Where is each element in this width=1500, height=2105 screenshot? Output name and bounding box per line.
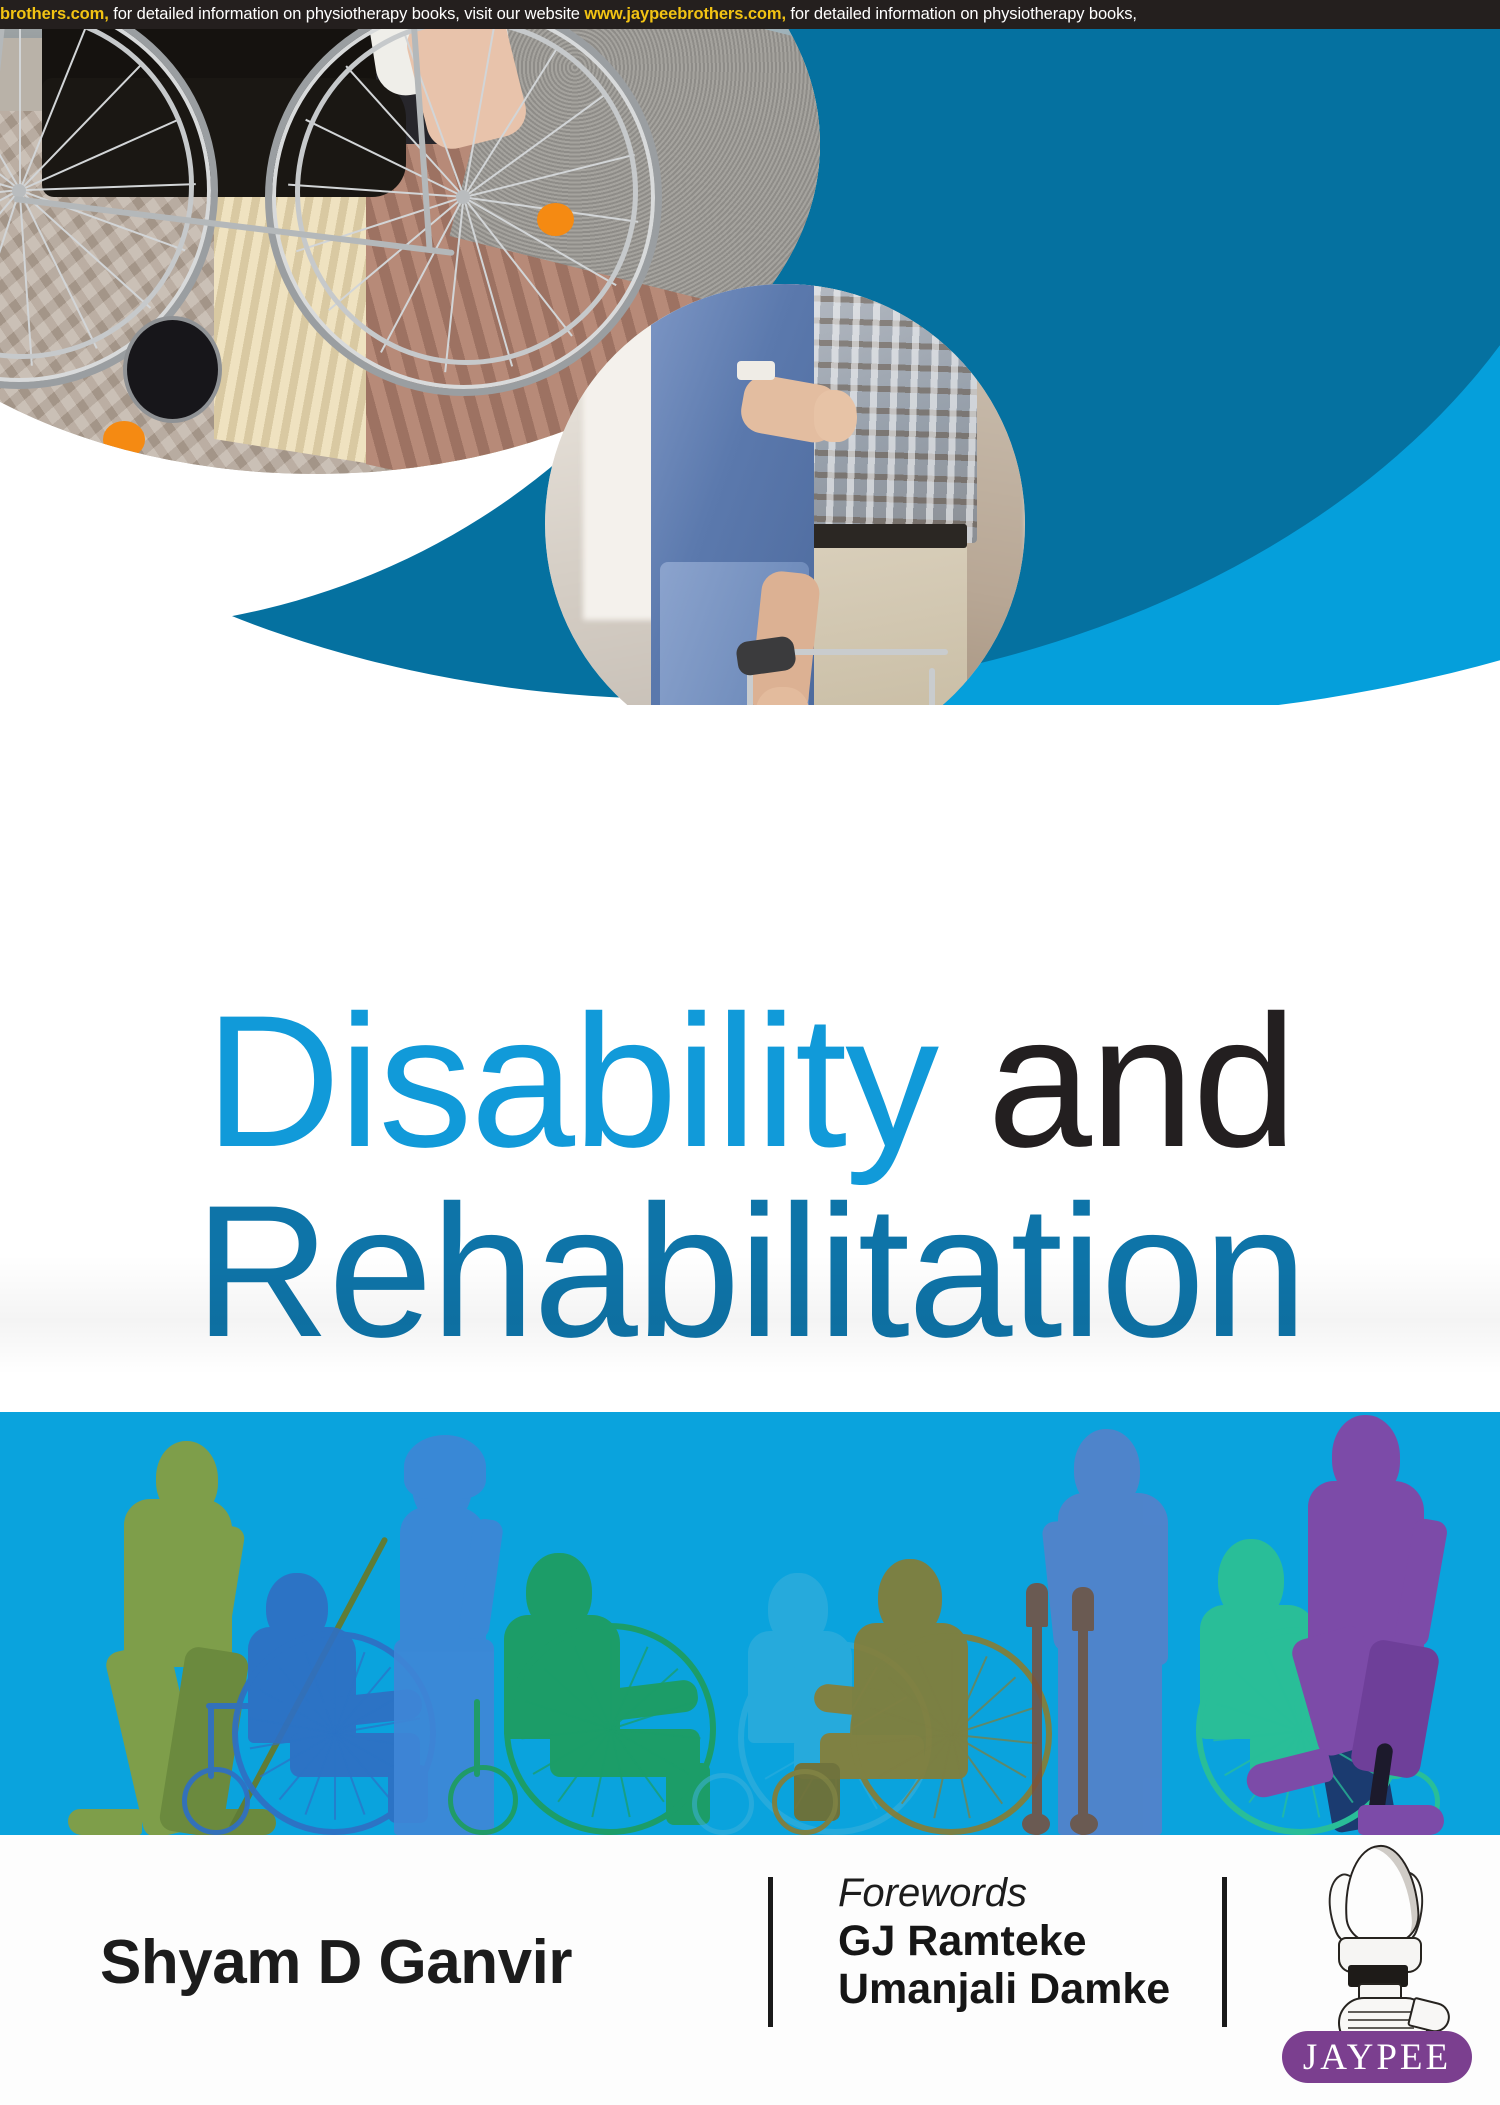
divider-right bbox=[1222, 1877, 1227, 2027]
title-word-disability: Disability bbox=[205, 976, 937, 1186]
forewords-block: Forewords GJ Ramteke Umanjali Damke bbox=[838, 1871, 1170, 2013]
book-cover: brothers.com, for detailed information o… bbox=[0, 0, 1500, 2105]
forewords-label: Forewords bbox=[838, 1871, 1170, 1917]
crutch-right bbox=[1078, 1609, 1088, 1835]
credits-block: Shyam D Ganvir Forewords GJ Ramteke Uman… bbox=[0, 1835, 1500, 2105]
crutch-left bbox=[1032, 1603, 1042, 1835]
publisher-name: JAYPEE bbox=[1303, 2036, 1451, 2079]
title-block: Disability and Rehabilitation bbox=[0, 705, 1500, 1395]
foreword-author-2: Umanjali Damke bbox=[838, 1965, 1170, 2013]
silhouette-band bbox=[0, 1412, 1500, 1835]
torch-in-hand-icon bbox=[1318, 1845, 1438, 2035]
publisher-logo: JAYPEE bbox=[1282, 1845, 1472, 2095]
promo-text-right: for detailed information on physiotherap… bbox=[786, 5, 1137, 23]
promo-domain-left: brothers.com, bbox=[0, 5, 109, 23]
title-line-2: Rehabilitation bbox=[0, 1177, 1500, 1365]
promo-banner: brothers.com, for detailed information o… bbox=[0, 0, 1500, 29]
author-name: Shyam D Ganvir bbox=[100, 1927, 572, 1998]
title-word-and: and bbox=[987, 976, 1295, 1186]
silhouette-runner-with-prosthetic bbox=[1252, 1415, 1492, 1835]
title-line-1: Disability and bbox=[0, 987, 1500, 1175]
foreword-author-1: GJ Ramteke bbox=[838, 1917, 1170, 1965]
divider-left bbox=[768, 1877, 773, 2027]
nurse-with-walker-photo bbox=[545, 284, 1025, 705]
title-word-rehabilitation: Rehabilitation bbox=[194, 1166, 1305, 1376]
cover-artwork-header bbox=[0, 29, 1500, 705]
promo-text-left: for detailed information on physiotherap… bbox=[109, 5, 585, 23]
publisher-name-badge: JAYPEE bbox=[1282, 2031, 1472, 2083]
promo-website-url[interactable]: www.jaypeebrothers.com, bbox=[584, 5, 786, 23]
